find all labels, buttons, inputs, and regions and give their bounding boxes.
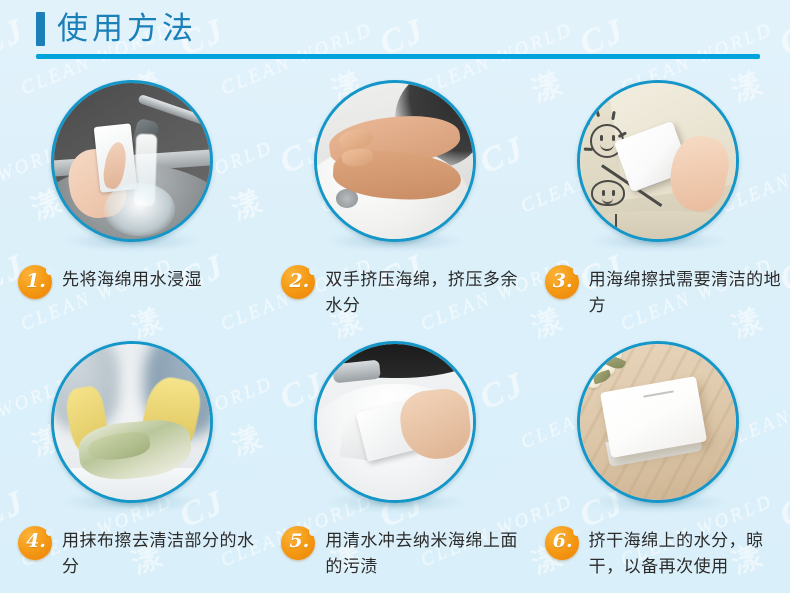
- scene-illustration: [317, 83, 473, 239]
- scene-illustration: [317, 344, 473, 500]
- photo-wrap-6: [577, 341, 739, 503]
- step-number-label: 1.: [26, 272, 46, 291]
- step-number-badge: 2.: [281, 265, 315, 299]
- title-underline: [36, 54, 760, 59]
- step-number-badge: 1.: [18, 265, 52, 299]
- photo-rinsing-sponge-in-sink: [314, 341, 476, 503]
- title-row: 使用方法: [36, 12, 197, 46]
- photo-gloves-wiping-cloth: [51, 341, 213, 503]
- step-number-label: 4.: [26, 532, 46, 551]
- step-text: 先将海绵用水浸湿: [62, 264, 202, 293]
- scene-illustration: [54, 83, 210, 239]
- step-caption-2: 2. 双手挤压海绵，挤压多余水分: [281, 264, 526, 319]
- step-text: 用海绵擦拭需要清洁的地方: [589, 264, 784, 319]
- page-header: 使用方法: [0, 0, 790, 72]
- scene-illustration: [54, 344, 210, 500]
- step-caption-4: 4. 用抹布擦去清洁部分的水分: [18, 525, 263, 580]
- step-number-label: 3.: [553, 272, 573, 291]
- step-card-1: 1. 先将海绵用水浸湿: [0, 72, 263, 333]
- photo-sponge-under-faucet: [51, 80, 213, 242]
- step-number-badge: 3.: [545, 265, 579, 299]
- step-number-label: 2.: [289, 272, 309, 291]
- step-card-6: 6. 挤干海绵上的水分，晾干，以备再次使用: [527, 333, 790, 593]
- step-number-badge: 5.: [281, 526, 315, 560]
- scene-illustration: [580, 83, 736, 239]
- step-card-5: 5. 用清水冲去纳米海绵上面的污渍: [263, 333, 526, 593]
- cloud-doodle-icon: [591, 180, 625, 206]
- title-accent-bar: [36, 12, 45, 46]
- page-title: 使用方法: [57, 12, 197, 46]
- step-card-4: 4. 用抹布擦去清洁部分的水分: [0, 333, 263, 593]
- step-text: 挤干海绵上的水分，晾干，以备再次使用: [589, 525, 784, 580]
- step-card-3: 3. 用海绵擦拭需要清洁的地方: [527, 72, 790, 333]
- step-number-label: 5.: [289, 532, 309, 551]
- step-number-label: 6.: [553, 532, 573, 551]
- photo-hands-squeezing-sponge: [314, 80, 476, 242]
- step-card-2: 2. 双手挤压海绵，挤压多余水分: [263, 72, 526, 333]
- scene-illustration: [580, 344, 736, 500]
- photo-wrap-2: [314, 80, 476, 242]
- photo-wrap-5: [314, 341, 476, 503]
- step-text: 双手挤压海绵，挤压多余水分: [325, 264, 520, 319]
- step-text: 用抹布擦去清洁部分的水分: [62, 525, 257, 580]
- photo-wiping-crayon-wall: [577, 80, 739, 242]
- steps-grid: 1. 先将海绵用水浸湿: [0, 72, 790, 593]
- step-number-badge: 4.: [18, 526, 52, 560]
- photo-wrap-4: [51, 341, 213, 503]
- step-caption-6: 6. 挤干海绵上的水分，晾干，以备再次使用: [545, 525, 790, 580]
- photo-sponge-block-on-wood: [577, 341, 739, 503]
- photo-wrap-1: [51, 80, 213, 242]
- page-root: CJCLEAN WORLD漾CJCLEAN WORLD漾CJCLEAN WORL…: [0, 0, 790, 593]
- step-caption-3: 3. 用海绵擦拭需要清洁的地方: [545, 264, 790, 319]
- photo-wrap-3: [577, 80, 739, 242]
- step-caption-5: 5. 用清水冲去纳米海绵上面的污渍: [281, 525, 526, 580]
- step-number-badge: 6.: [545, 526, 579, 560]
- step-caption-1: 1. 先将海绵用水浸湿: [18, 264, 263, 299]
- step-text: 用清水冲去纳米海绵上面的污渍: [325, 525, 520, 580]
